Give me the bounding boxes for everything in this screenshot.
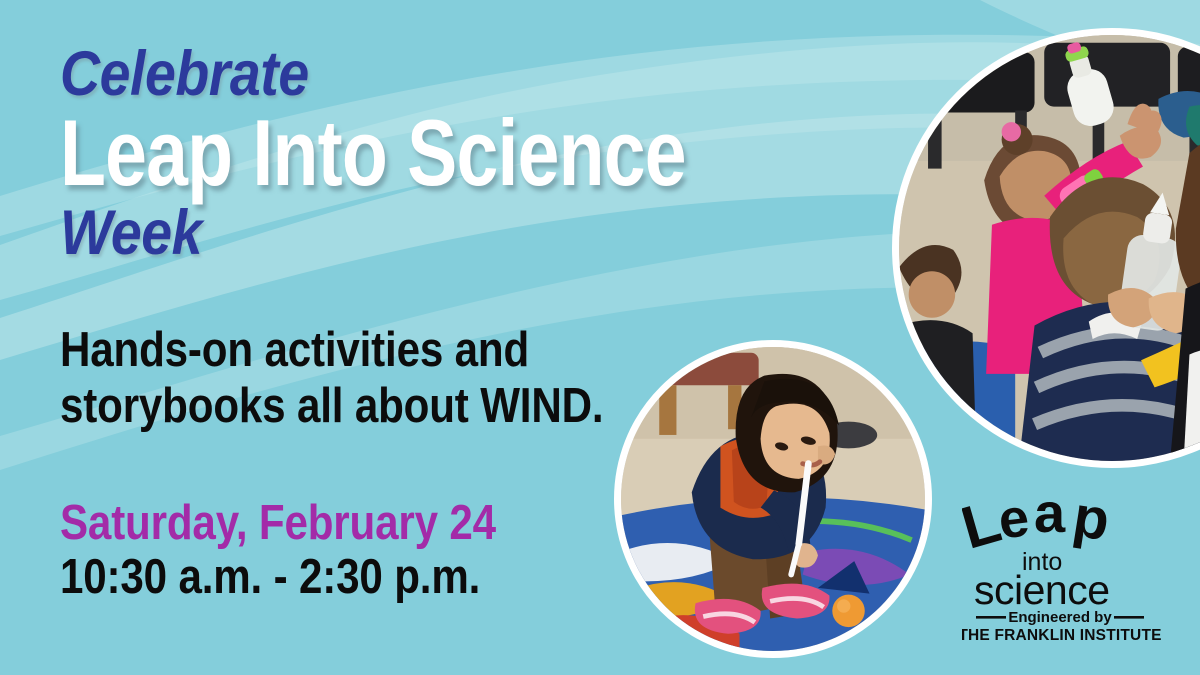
photo-bottom-illustration [621,347,925,651]
logo-rule-left [976,616,1006,619]
page-title: Leap Into Science [60,108,668,198]
logo-word-science: science [974,567,1110,613]
description-line-2: storybooks all about WIND. [60,379,714,435]
logo-letter-a: a [1034,492,1066,544]
description-text: Hands-on activities and storybooks all a… [60,323,714,435]
photo-toddler-blowing-straw [614,340,932,658]
leap-into-science-logo: L e a p into science Engineered by THE F… [962,492,1162,642]
logo-artwork: L e a p into science Engineered by THE F… [962,492,1162,642]
description-line-1: Hands-on activities and [60,323,714,379]
event-time: 10:30 a.m. - 2:30 p.m. [60,551,714,605]
logo-org-name: THE FRANKLIN INSTITUTE [962,627,1162,642]
promo-poster: Celebrate Leap Into Science Week Hands-o… [0,0,1200,675]
logo-letter-e: e [995,492,1032,551]
kicker-week: Week [60,202,729,265]
logo-letter-p: p [1069,492,1114,553]
logo-tagline-engineered: Engineered by [1008,609,1112,626]
logo-rule-right [1114,616,1144,619]
kicker-celebrate: Celebrate [60,44,729,106]
